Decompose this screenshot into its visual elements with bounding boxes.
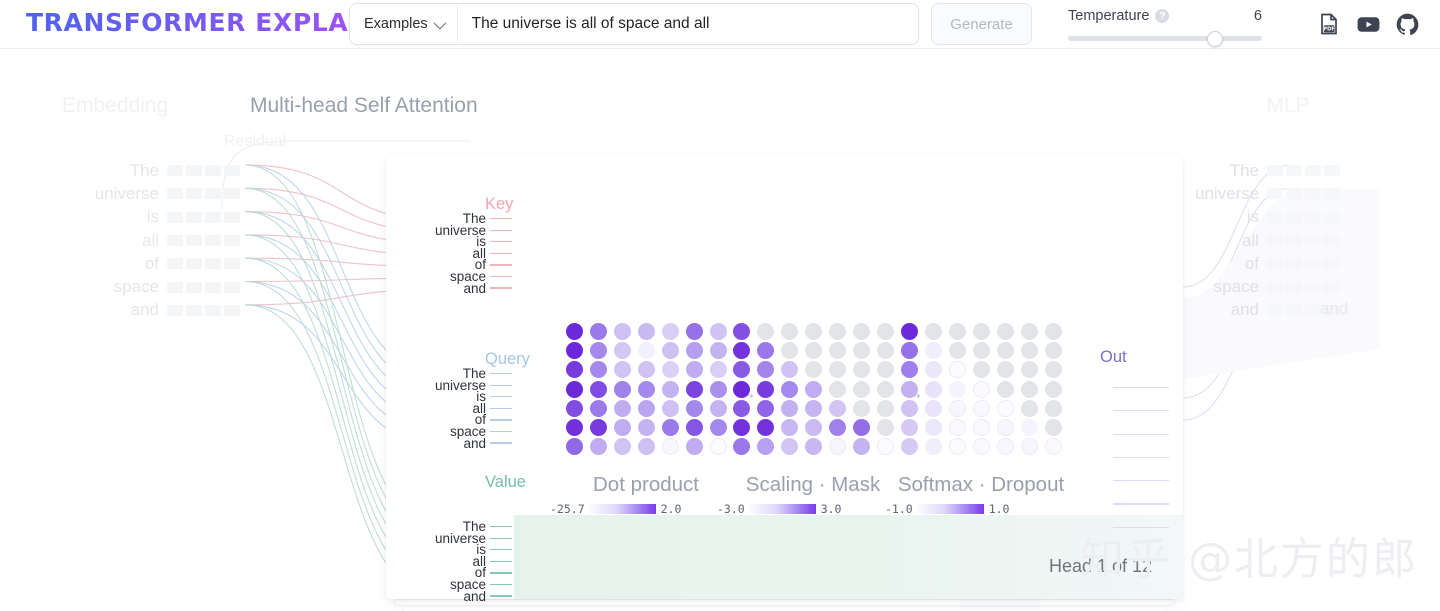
matrix-cell[interactable]	[801, 341, 825, 360]
embedding-cell	[224, 188, 240, 199]
matrix-cell-dot	[1021, 323, 1038, 340]
matrix-cell[interactable]	[682, 418, 706, 437]
qkv-stub-line	[490, 561, 512, 562]
attention-head-card[interactable]: KeyTheuniverseisallofspaceandQueryTheuni…	[386, 155, 1183, 599]
qkv-stub-line	[490, 572, 512, 573]
github-icon[interactable]	[1394, 11, 1420, 37]
temperature-slider-thumb[interactable]	[1207, 31, 1223, 47]
matrix-cell[interactable]	[801, 418, 825, 437]
matrix-cell[interactable]	[969, 437, 993, 456]
matrix-cell[interactable]	[610, 399, 634, 418]
mlp-output-cell	[1305, 165, 1321, 176]
embedding-column: Theuniverseisallofspaceand	[40, 159, 240, 322]
matrix-cell-dot	[805, 342, 822, 359]
matrix-cell[interactable]	[634, 437, 658, 456]
matrix-cell[interactable]	[897, 360, 921, 379]
token-label[interactable]: and	[410, 438, 486, 450]
matrix-cell-dot	[757, 381, 774, 398]
matrix-cell[interactable]	[610, 360, 634, 379]
mlp-output-row[interactable]: The	[1195, 159, 1425, 182]
temperature-header-row: Temperature ? 6	[1068, 6, 1262, 26]
token-label[interactable]: and	[410, 591, 486, 603]
embedding-token-label: The	[130, 161, 167, 181]
matrix-cell[interactable]	[825, 322, 849, 341]
help-circle-icon[interactable]: ?	[1155, 9, 1169, 23]
matrix-cell[interactable]	[849, 399, 873, 418]
matrix-cell[interactable]	[897, 380, 921, 399]
token-label[interactable]: universe	[410, 380, 486, 392]
matrix-cell[interactable]	[1017, 380, 1041, 399]
mlp-output-cell	[1286, 235, 1302, 246]
matrix-cell[interactable]	[706, 360, 730, 379]
matrix-cell[interactable]	[897, 399, 921, 418]
matrix-cell-dot	[829, 381, 846, 398]
legend-min: -25.7	[550, 502, 585, 516]
matrix-cell[interactable]	[586, 341, 610, 360]
matrix-cell-dot	[614, 381, 631, 398]
matrix-cell-dot	[781, 323, 798, 340]
qkv-stub-lines	[490, 526, 512, 607]
matrix-cell[interactable]	[921, 322, 945, 341]
matrix-cell-dot	[877, 400, 894, 417]
matrix-cell[interactable]	[634, 380, 658, 399]
matrix-cell-dot	[686, 419, 703, 436]
qkv-label-key: Key	[485, 195, 513, 214]
matrix-cell[interactable]	[801, 437, 825, 456]
matrix-cell[interactable]	[777, 322, 801, 341]
matrix-cell[interactable]	[706, 380, 730, 399]
matrix-cell[interactable]	[969, 322, 993, 341]
matrix-cell[interactable]	[586, 418, 610, 437]
header-divider	[0, 48, 1440, 49]
matrix-cell-dot	[566, 381, 583, 398]
matrix-cell[interactable]	[562, 437, 586, 456]
matrix-cell-dot	[710, 381, 727, 398]
matrix-cell[interactable]	[586, 399, 610, 418]
matrix-cell[interactable]	[849, 322, 873, 341]
matrix-cell-dot	[1021, 342, 1038, 359]
matrix-cell[interactable]	[562, 399, 586, 418]
mlp-output-vector	[1267, 235, 1340, 246]
matrix-cell[interactable]	[873, 322, 897, 341]
matrix-cell[interactable]	[849, 437, 873, 456]
matrix-cell-dot	[757, 342, 774, 359]
matrix-cell[interactable]	[753, 341, 777, 360]
matrix-cell[interactable]	[921, 341, 945, 360]
matrix-cell[interactable]	[873, 399, 897, 418]
matrix-cell-dot	[590, 381, 607, 398]
legend-color-bar	[750, 504, 816, 514]
matrix-cell-dot	[901, 361, 918, 378]
matrix-cell-dot	[590, 400, 607, 417]
matrix-cell[interactable]	[801, 399, 825, 418]
matrix-cell-dot	[877, 323, 894, 340]
embedding-token-label: of	[145, 254, 167, 274]
matrix-cell-dot	[638, 381, 655, 398]
matrix-cell[interactable]	[801, 360, 825, 379]
matrix-cell[interactable]	[562, 418, 586, 437]
mlp-output-cell	[1267, 212, 1283, 223]
embedding-vector	[167, 165, 240, 176]
embedding-row[interactable]: is	[40, 206, 240, 229]
matrix-cell-dot	[877, 342, 894, 359]
matrix-cell[interactable]	[897, 322, 921, 341]
matrix-cell-dot	[973, 400, 990, 417]
matrix-cell[interactable]	[706, 437, 730, 456]
matrix-cell-dot	[997, 323, 1014, 340]
matrix-cell-dot	[638, 323, 655, 340]
matrix-cell[interactable]	[825, 380, 849, 399]
matrix-cell[interactable]	[634, 360, 658, 379]
matrix-cell[interactable]	[634, 341, 658, 360]
matrix-cell-dot	[997, 361, 1014, 378]
matrix-cell[interactable]	[658, 418, 682, 437]
mlp-output-token-label: universe	[1195, 184, 1267, 204]
embedding-vector	[167, 258, 240, 269]
matrix-cell[interactable]	[777, 341, 801, 360]
matrix-cell[interactable]	[562, 360, 586, 379]
matrix-cell-dot	[614, 400, 631, 417]
matrix-cell[interactable]	[993, 418, 1017, 437]
matrix-cell[interactable]	[682, 341, 706, 360]
mlp-output-cell	[1267, 235, 1283, 246]
matrix-cell[interactable]	[1017, 399, 1041, 418]
matrix-cell-dot	[997, 400, 1014, 417]
matrix-cell[interactable]	[706, 341, 730, 360]
matrix-cell-dot	[566, 361, 583, 378]
matrix-cell[interactable]	[921, 437, 945, 456]
matrix-cell[interactable]	[1041, 418, 1065, 437]
embedding-cell	[205, 282, 221, 293]
matrix-cell[interactable]	[1017, 322, 1041, 341]
matrix-cell-dot	[853, 400, 870, 417]
matrix-cell-dot	[710, 342, 727, 359]
out-stub-line	[1113, 527, 1169, 528]
matrix-cell[interactable]	[610, 418, 634, 437]
matrix-cell[interactable]	[586, 380, 610, 399]
matrix-cell[interactable]	[825, 341, 849, 360]
mlp-output-row[interactable]: space	[1195, 275, 1425, 298]
legend-max: 3.0	[821, 502, 842, 516]
matrix-cell[interactable]	[849, 418, 873, 437]
mlp-output-cell	[1324, 165, 1340, 176]
matrix-cell[interactable]	[777, 437, 801, 456]
generate-button[interactable]: Generate	[931, 3, 1032, 45]
mlp-output-cell	[1267, 305, 1283, 316]
matrix-cell[interactable]	[610, 380, 634, 399]
embedding-row[interactable]: space	[40, 275, 240, 298]
matrix-cell[interactable]	[1017, 360, 1041, 379]
matrix-cell[interactable]	[993, 399, 1017, 418]
token-label[interactable]: and	[410, 283, 486, 295]
matrix-cell-dot	[757, 323, 774, 340]
matrix-cell-dot	[733, 438, 750, 455]
temperature-slider[interactable]	[1068, 36, 1262, 41]
matrix-cell[interactable]	[682, 360, 706, 379]
out-stub-line	[1113, 387, 1169, 388]
matrix-cell[interactable]	[873, 437, 897, 456]
youtube-icon[interactable]	[1355, 11, 1381, 37]
mlp-output-cell	[1324, 212, 1340, 223]
embedding-cell	[224, 305, 240, 316]
matrix-cell-dot	[949, 419, 966, 436]
matrix-cell-dot	[710, 419, 727, 436]
embedding-cell	[186, 188, 202, 199]
matrix-cell[interactable]	[873, 360, 897, 379]
embedding-row[interactable]: of	[40, 252, 240, 275]
matrix-cell[interactable]	[753, 360, 777, 379]
matrix-cell[interactable]	[945, 341, 969, 360]
attention-matrix[interactable]	[897, 322, 1065, 456]
matrix-cell[interactable]	[706, 322, 730, 341]
matrix-cell[interactable]	[658, 322, 682, 341]
mlp-output-row[interactable]: universe	[1195, 182, 1425, 205]
matrix-cell[interactable]	[706, 399, 730, 418]
matrix-cell[interactable]	[562, 322, 586, 341]
matrix-cell[interactable]	[897, 341, 921, 360]
attention-matrix[interactable]	[729, 322, 897, 456]
matrix-cell-dot	[853, 419, 870, 436]
out-stub-line	[1113, 457, 1169, 458]
matrix-cell[interactable]	[658, 399, 682, 418]
matrix-cell[interactable]	[1041, 437, 1065, 456]
matrix-cell[interactable]	[873, 380, 897, 399]
embedding-row[interactable]: and	[40, 299, 240, 322]
matrix-cell[interactable]	[825, 437, 849, 456]
matrix-cell[interactable]	[873, 418, 897, 437]
matrix-cell[interactable]	[753, 322, 777, 341]
matrix-cell-dot	[710, 361, 727, 378]
matrix-cell-dot	[566, 419, 583, 436]
matrix-cell-dot	[638, 400, 655, 417]
matrix-cell[interactable]	[945, 437, 969, 456]
mlp-output-cell	[1267, 188, 1283, 199]
matrix-cell[interactable]	[586, 322, 610, 341]
matrix-cell[interactable]	[969, 341, 993, 360]
matrix-cell[interactable]	[1017, 437, 1041, 456]
matrix-cell[interactable]	[921, 418, 945, 437]
matrix-cell[interactable]	[753, 399, 777, 418]
matrix-cell[interactable]	[706, 418, 730, 437]
mlp-output-cell	[1305, 258, 1321, 269]
matrix-cell-dot	[781, 419, 798, 436]
embedding-cell	[186, 235, 202, 246]
matrix-legend: -25.72.0	[550, 502, 681, 516]
matrix-cell[interactable]	[729, 360, 753, 379]
matrix-cell[interactable]	[993, 341, 1017, 360]
examples-dropdown-button[interactable]: Examples	[350, 4, 458, 44]
embedding-row[interactable]: The	[40, 159, 240, 182]
matrix-cell[interactable]	[945, 380, 969, 399]
matrix-cell[interactable]	[753, 437, 777, 456]
matrix-cell[interactable]	[993, 322, 1017, 341]
matrix-cell[interactable]	[729, 437, 753, 456]
stacked-head-card[interactable]	[402, 606, 1167, 611]
matrix-cell[interactable]	[945, 418, 969, 437]
mlp-output-cell	[1324, 188, 1340, 199]
matrix-cell-dot	[757, 400, 774, 417]
matrix-cell[interactable]	[921, 399, 945, 418]
matrix-cell[interactable]	[801, 380, 825, 399]
matrix-cell-dot	[662, 342, 679, 359]
matrix-cell[interactable]	[849, 380, 873, 399]
matrix-cell-dot	[973, 323, 990, 340]
matrix-cell-dot	[662, 361, 679, 378]
matrix-cell[interactable]	[586, 360, 610, 379]
mlp-output-row[interactable]: and	[1195, 299, 1425, 322]
matrix-cell[interactable]	[1041, 399, 1065, 418]
matrix-cell[interactable]	[682, 380, 706, 399]
matrix-cell[interactable]	[969, 380, 993, 399]
matrix-cell-dot	[781, 342, 798, 359]
matrix-cell[interactable]	[1041, 341, 1065, 360]
matrix-cell[interactable]	[634, 418, 658, 437]
matrix-cell[interactable]	[849, 360, 873, 379]
matrix-cell[interactable]	[729, 399, 753, 418]
matrix-cell[interactable]	[729, 322, 753, 341]
mlp-output-cell	[1324, 282, 1340, 293]
qkv-stub-line	[490, 276, 512, 277]
embedding-cell	[205, 212, 221, 223]
matrix-cell-dot	[973, 381, 990, 398]
head-counter: Head 1 of 12	[1049, 556, 1152, 577]
residual-label: Residual	[224, 133, 286, 151]
mlp-output-cell	[1305, 188, 1321, 199]
matrix-cell-dot	[566, 400, 583, 417]
matrix-cell[interactable]	[1041, 322, 1065, 341]
matrix-cell[interactable]	[658, 341, 682, 360]
matrix-cell[interactable]	[753, 418, 777, 437]
matrix-cell[interactable]	[777, 380, 801, 399]
matrix-cell[interactable]	[1017, 418, 1041, 437]
mlp-output-vector	[1267, 258, 1340, 269]
mlp-output-row[interactable]: all	[1195, 229, 1425, 252]
matrix-cell-dot	[781, 400, 798, 417]
matrix-cell[interactable]	[1041, 380, 1065, 399]
embedding-row[interactable]: all	[40, 229, 240, 252]
matrix-cell[interactable]	[658, 360, 682, 379]
matrix-cell[interactable]	[610, 437, 634, 456]
matrix-cell[interactable]	[945, 322, 969, 341]
matrix-cell-dot	[662, 381, 679, 398]
matrix-cell-dot	[829, 361, 846, 378]
matrix-cell[interactable]	[825, 360, 849, 379]
token-label[interactable]: universe	[410, 225, 486, 237]
matrix-cell[interactable]	[753, 380, 777, 399]
matrix-cell[interactable]	[897, 418, 921, 437]
matrix-cell-dot	[781, 381, 798, 398]
matrix-cell[interactable]	[897, 437, 921, 456]
matrix-cell[interactable]	[969, 418, 993, 437]
matrix-cell[interactable]	[777, 399, 801, 418]
matrix-cell[interactable]	[729, 380, 753, 399]
legend-min: -3.0	[717, 502, 745, 516]
matrix-cell-dot	[686, 342, 703, 359]
matrix-cell[interactable]	[634, 399, 658, 418]
embedding-cell	[224, 212, 240, 223]
embedding-cell	[205, 235, 221, 246]
matrix-cell[interactable]	[825, 399, 849, 418]
mlp-output-row[interactable]: is	[1195, 206, 1425, 229]
pdf-file-icon[interactable]: PDF	[1316, 11, 1342, 37]
matrix-cell[interactable]	[682, 322, 706, 341]
matrix-cell[interactable]	[993, 380, 1017, 399]
matrix-cell[interactable]	[921, 360, 945, 379]
matrix-cell[interactable]	[562, 341, 586, 360]
matrix-cell-dot	[949, 400, 966, 417]
matrix-cell[interactable]	[586, 437, 610, 456]
matrix-cell-dot	[1045, 419, 1062, 436]
matrix-cell[interactable]	[849, 341, 873, 360]
matrix-cell[interactable]	[825, 418, 849, 437]
mlp-output-token-label: all	[1195, 231, 1267, 251]
matrix-cell-dot	[757, 438, 774, 455]
matrix-cell-dot	[853, 381, 870, 398]
legend-max: 1.0	[989, 502, 1010, 516]
matrix-cell[interactable]	[873, 341, 897, 360]
matrix-cell[interactable]	[658, 437, 682, 456]
matrix-cell[interactable]	[777, 360, 801, 379]
matrix-cell[interactable]	[610, 341, 634, 360]
embedding-cell	[205, 188, 221, 199]
matrix-cell[interactable]	[729, 341, 753, 360]
embedding-cell	[167, 305, 183, 316]
matrix-cell[interactable]	[969, 360, 993, 379]
mlp-output-row[interactable]: of	[1195, 252, 1425, 275]
matrix-cell-dot	[614, 342, 631, 359]
matrix-cell[interactable]	[921, 380, 945, 399]
matrix-cell-dot	[686, 400, 703, 417]
matrix-cell-dot	[686, 381, 703, 398]
matrix-cell[interactable]	[658, 380, 682, 399]
mlp-output-cell	[1286, 188, 1302, 199]
prompt-input[interactable]	[458, 4, 918, 44]
mlp-output-token-label: The	[1195, 161, 1267, 181]
matrix-cell-dot	[686, 438, 703, 455]
matrix-cell[interactable]	[1017, 341, 1041, 360]
matrix-cell-dot	[901, 342, 918, 359]
matrix-cell[interactable]	[945, 360, 969, 379]
matrix-cell[interactable]	[1041, 360, 1065, 379]
matrix-cell-dot	[1045, 361, 1062, 378]
matrix-cell[interactable]	[682, 437, 706, 456]
matrix-cell[interactable]	[777, 418, 801, 437]
matrix-cell-dot	[686, 323, 703, 340]
matrix-cell[interactable]	[993, 360, 1017, 379]
matrix-cell[interactable]	[945, 399, 969, 418]
matrix-cell[interactable]	[729, 418, 753, 437]
matrix-cell[interactable]	[969, 399, 993, 418]
qkv-stub-line	[490, 584, 512, 585]
matrix-cell[interactable]	[993, 437, 1017, 456]
matrix-cell[interactable]	[562, 380, 586, 399]
matrix-cell-dot	[710, 400, 727, 417]
embedding-cell	[205, 305, 221, 316]
embedding-cell	[167, 188, 183, 199]
matrix-cell[interactable]	[610, 322, 634, 341]
matrix-cell[interactable]	[682, 399, 706, 418]
matrix-cell[interactable]	[801, 322, 825, 341]
token-label[interactable]: universe	[410, 533, 486, 545]
matrix-cell-dot	[973, 419, 990, 436]
matrix-cell-dot	[877, 438, 894, 455]
attention-matrix[interactable]	[562, 322, 730, 456]
temperature-label: Temperature	[1068, 8, 1149, 24]
mlp-output-cell	[1305, 282, 1321, 293]
matrix-cell[interactable]	[634, 322, 658, 341]
embedding-row[interactable]: universe	[40, 182, 240, 205]
mlp-output-cell	[1286, 165, 1302, 176]
